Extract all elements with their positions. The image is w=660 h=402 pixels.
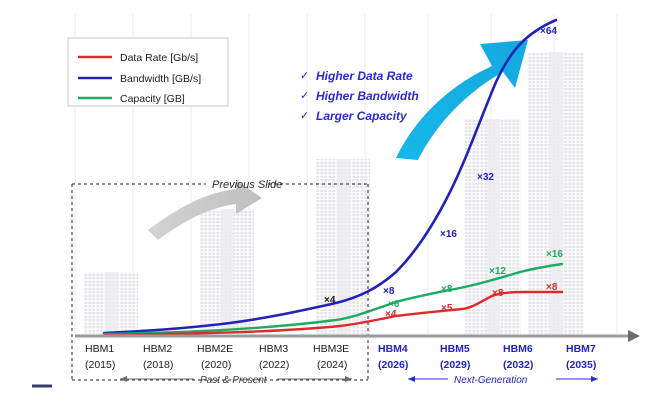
axis-label-hbm7: HBM7	[566, 343, 596, 355]
axis-label-hbm4: HBM4	[378, 343, 408, 355]
callout-line-3: Larger Capacity	[316, 109, 408, 123]
callout-line-1: Higher Data Rate	[316, 69, 413, 83]
check-icon-1: ✓	[300, 70, 309, 82]
axis-label-hbm6: HBM6	[503, 343, 533, 355]
axis-year-hbm2: (2018)	[143, 359, 173, 371]
axis-label-hbm3e: HBM3E	[313, 343, 349, 355]
hbm-roadmap-chart: ×4 ×8 ×16 ×32 ×64 ×6 ×8 ×12 ×16 ×4 ×5 ×8…	[0, 0, 660, 402]
axis-year-hbm6: (2032)	[503, 359, 533, 371]
next-generation-label: Next-Generation	[454, 375, 528, 386]
benefits-callout: ✓ Higher Data Rate ✓ Higher Bandwidth ✓ …	[300, 69, 419, 123]
callout-line-2: Higher Bandwidth	[316, 89, 419, 103]
label-data-rate-hbm6: ×8	[492, 288, 504, 299]
axis-year-hbm7: (2035)	[566, 359, 596, 371]
label-bandwidth-hbm7: ×64	[540, 26, 557, 37]
label-stack-hbm3e: ×4	[324, 295, 336, 306]
axis-label-hbm2: HBM2	[143, 343, 172, 355]
axis-year-hbm5: (2029)	[440, 359, 470, 371]
check-icon-3: ✓	[300, 110, 309, 122]
legend: Data Rate [Gb/s] Bandwidth [GB/s] Capaci…	[68, 38, 228, 106]
label-data-rate-hbm5: ×5	[441, 303, 453, 314]
axis-label-hbm1: HBM1	[85, 343, 114, 355]
label-data-rate-hbm4: ×4	[385, 309, 397, 320]
check-icon-2: ✓	[300, 90, 309, 102]
legend-label-capacity: Capacity [GB]	[120, 93, 185, 105]
label-bandwidth-hbm6: ×32	[477, 172, 494, 183]
label-capacity-hbm6: ×12	[489, 266, 506, 277]
axis-label-hbm3: HBM3	[259, 343, 288, 355]
label-data-rate-hbm7: ×8	[546, 282, 558, 293]
axis-year-hbm3e: (2024)	[317, 359, 347, 371]
legend-label-data-rate: Data Rate [Gb/s]	[120, 52, 198, 64]
axis-label-hbm5: HBM5	[440, 343, 470, 355]
axis-year-hbm3: (2022)	[259, 359, 289, 371]
axis-year-hbm1: (2015)	[85, 359, 115, 371]
previous-slide-label: Previous Slide	[212, 179, 282, 191]
past-present-label: Past & Present	[200, 375, 268, 386]
label-capacity-hbm5: ×8	[441, 284, 453, 295]
axis-year-hbm2e: (2020)	[201, 359, 231, 371]
axis-label-hbm2e: HBM2E	[197, 343, 233, 355]
label-bandwidth-hbm4: ×8	[383, 286, 395, 297]
axis-year-hbm4: (2026)	[378, 359, 408, 371]
legend-label-bandwidth: Bandwidth [GB/s]	[120, 73, 201, 85]
label-capacity-hbm7: ×16	[546, 249, 563, 260]
label-bandwidth-hbm5: ×16	[440, 229, 457, 240]
